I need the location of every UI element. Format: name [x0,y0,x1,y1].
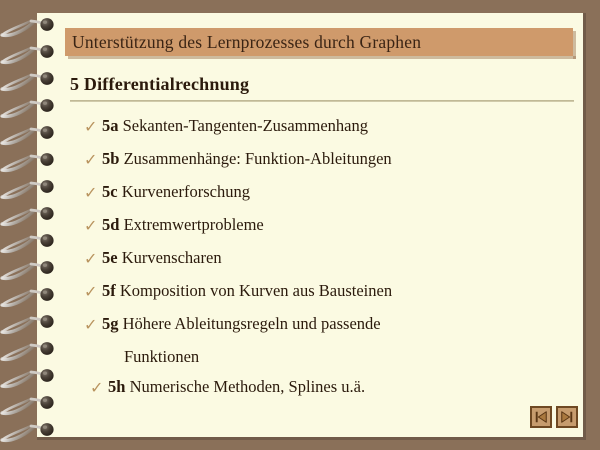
title-band-shadow-right [573,31,576,59]
list-item[interactable]: ✓ 5f Komposition von Kurven aus Baustein… [0,278,600,311]
list-item[interactable]: ✓ 5e Kurvenscharen [0,245,600,278]
list-item-label: Kurvenerforschung [122,182,250,201]
list-item-code: 5f [102,281,116,300]
heading-divider [70,100,574,102]
slide-navigation [530,406,578,428]
list-item-label: Zusammenhänge: Funktion-Ableitungen [124,149,392,168]
list-item-code: 5g [102,314,119,333]
list-item-text: 5g Höhere Ableitungsregeln und passende [102,311,381,337]
list-item-text: 5b Zusammenhänge: Funktion-Ableitungen [102,146,392,172]
agenda-list: ✓ 5a Sekanten-Tangenten-Zusammenhang ✓ 5… [0,113,600,407]
list-item-text: 5f Komposition von Kurven aus Bausteinen [102,278,392,304]
list-item[interactable]: ✓ 5a Sekanten-Tangenten-Zusammenhang [0,113,600,146]
section-heading: 5 Differentialrechnung [70,74,249,95]
check-icon: ✓ [84,247,100,273]
list-item-code: 5d [102,215,119,234]
list-item-text: 5h Numerische Methoden, Splines u.ä. [108,374,365,400]
list-item-label: Höhere Ableitungsregeln und passende [123,314,381,333]
slide-title: Unterstützung des Lernprozesses durch Gr… [72,28,572,56]
list-item-label: Kurvenscharen [122,248,222,267]
check-icon: ✓ [84,313,100,339]
list-item-code: 5h [108,377,125,396]
list-item-code: 5a [102,116,119,135]
list-item[interactable]: ✓ 5c Kurvenerforschung [0,179,600,212]
list-item[interactable]: ✓ 5d Extremwertprobleme [0,212,600,245]
check-icon: ✓ [84,115,100,141]
list-item[interactable]: ✓ 5g Höhere Ableitungsregeln und passend… [0,311,600,344]
list-item-continuation-text: Funktionen [124,344,199,370]
list-item-text: 5c Kurvenerforschung [102,179,250,205]
check-icon: ✓ [90,376,106,402]
list-item-text: 5e Kurvenscharen [102,245,222,271]
check-icon: ✓ [84,181,100,207]
list-item-text: 5d Extremwertprobleme [102,212,264,238]
list-item-label: Komposition von Kurven aus Bausteinen [120,281,392,300]
list-item[interactable]: ✓ 5h Numerische Methoden, Splines u.ä. [0,374,600,407]
list-item-code: 5b [102,149,119,168]
slide-canvas: Unterstützung des Lernprozesses durch Gr… [0,0,600,450]
list-item-code: 5c [102,182,118,201]
list-item-label: Extremwertprobleme [124,215,264,234]
list-item-label: Numerische Methoden, Splines u.ä. [130,377,366,396]
skip-back-icon [534,410,548,424]
check-icon: ✓ [84,148,100,174]
check-icon: ✓ [84,214,100,240]
page-shadow-bottom [37,437,586,440]
title-band-shadow-bottom [68,56,576,59]
list-item-text: 5a Sekanten-Tangenten-Zusammenhang [102,113,368,139]
previous-slide-button[interactable] [530,406,552,428]
list-item-continuation: Funktionen [0,344,600,374]
skip-forward-icon [560,410,574,424]
check-icon: ✓ [84,280,100,306]
list-item-code: 5e [102,248,118,267]
next-slide-button[interactable] [556,406,578,428]
list-item-label: Sekanten-Tangenten-Zusammenhang [123,116,368,135]
list-item[interactable]: ✓ 5b Zusammenhänge: Funktion-Ableitungen [0,146,600,179]
